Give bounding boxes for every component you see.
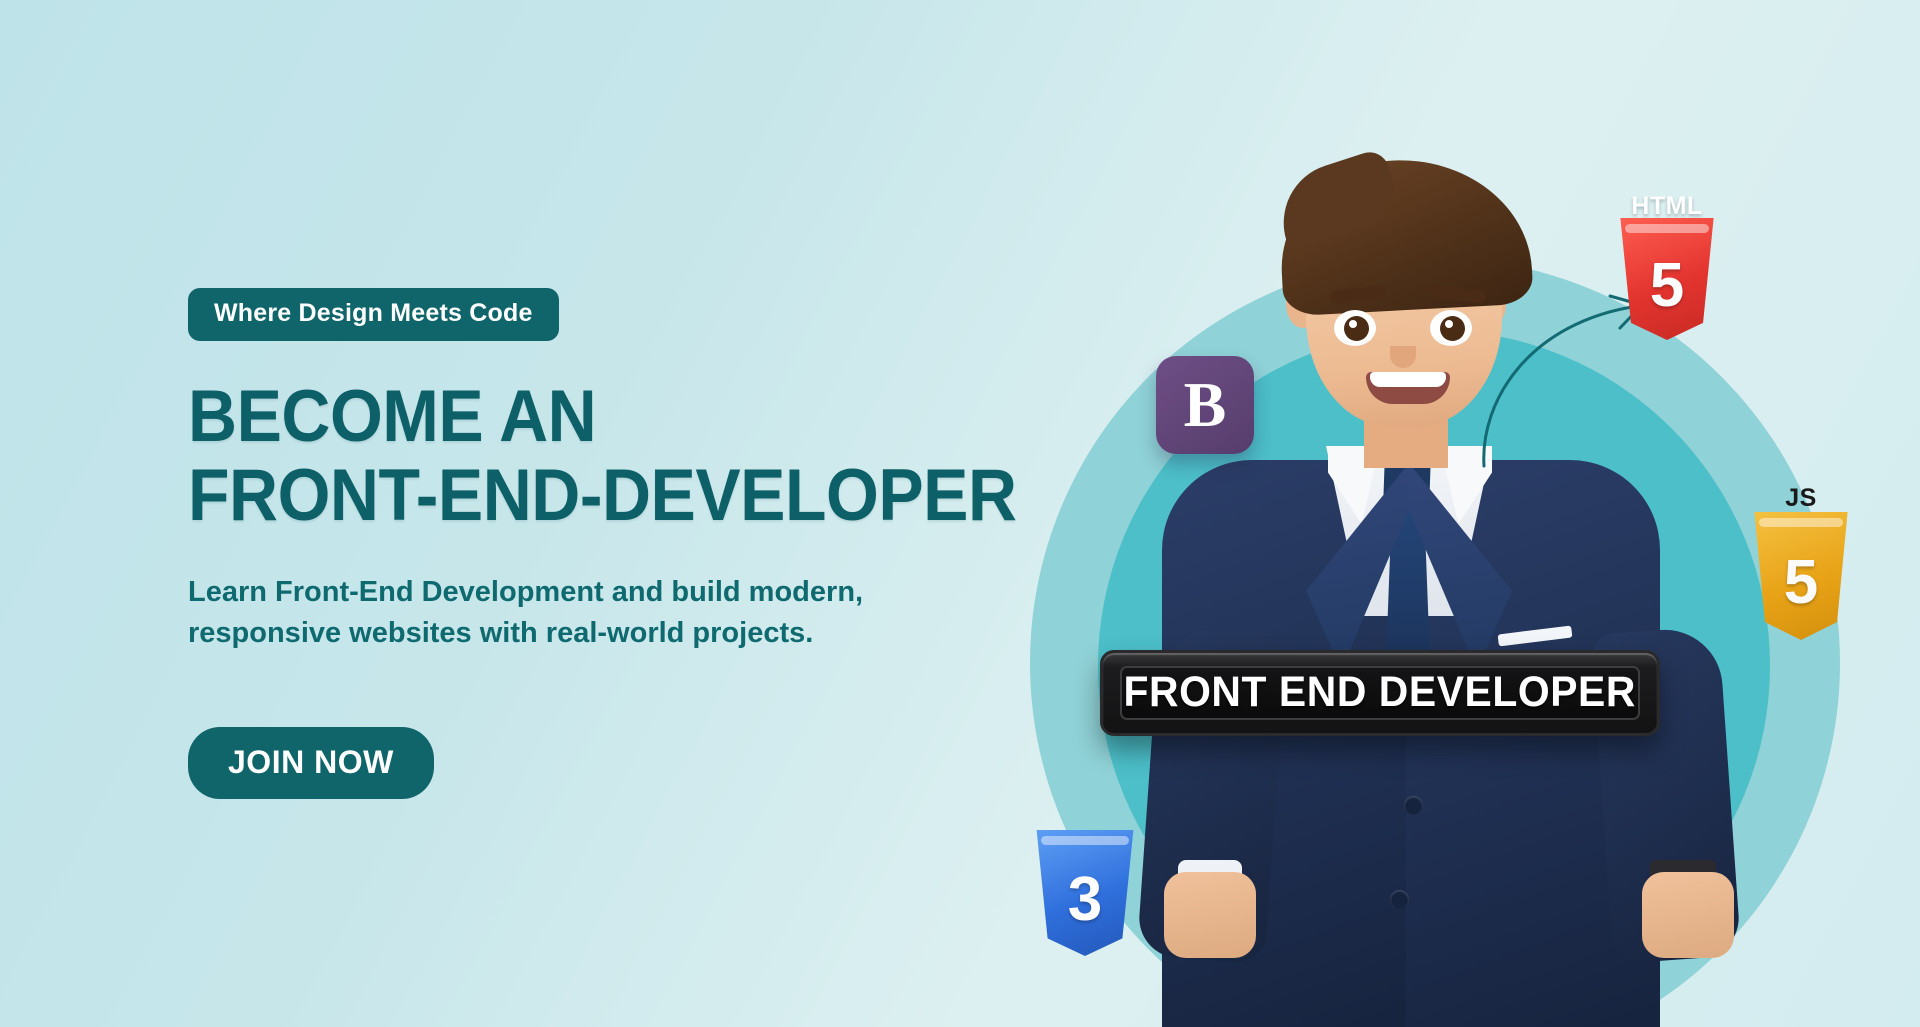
headline-line-2: FRONT-END-DEVELOPER — [188, 462, 1025, 531]
css3-shield: 3 — [1030, 830, 1140, 956]
name-plate-sign: FRONT END DEVELOPER — [1100, 650, 1660, 736]
page-title: BECOME AN FRONT-END-DEVELOPER — [188, 383, 1025, 530]
hand-left — [1164, 872, 1256, 958]
javascript-icon: JS 5 — [1748, 512, 1854, 640]
html5-highlight — [1625, 224, 1710, 233]
mouth — [1366, 372, 1450, 404]
bootstrap-glyph: B — [1184, 373, 1227, 437]
jacket-button-top — [1404, 796, 1423, 815]
jacket-button-bottom — [1390, 890, 1409, 909]
css3-highlight — [1041, 836, 1129, 845]
teeth — [1370, 372, 1446, 387]
hand-right — [1642, 872, 1734, 958]
javascript-glyph: 5 — [1784, 552, 1818, 614]
html5-icon: HTML 5 — [1614, 218, 1720, 340]
hero-copy-block: Where Design Meets Code BECOME AN FRONT-… — [188, 288, 1088, 799]
html5-label: HTML — [1614, 192, 1720, 221]
javascript-label: JS — [1748, 484, 1854, 513]
css3-glyph: 3 — [1068, 869, 1102, 931]
eyebrow-badge: Where Design Meets Code — [188, 288, 559, 341]
html5-shield: 5 — [1614, 218, 1720, 340]
bootstrap-icon: B — [1156, 356, 1254, 454]
hero-banner: Where Design Meets Code BECOME AN FRONT-… — [0, 0, 1920, 1027]
javascript-highlight — [1759, 518, 1844, 527]
join-now-button[interactable]: JOIN NOW — [188, 727, 434, 799]
css3-icon: 3 — [1030, 830, 1140, 956]
headline-line-1: BECOME AN — [188, 376, 596, 457]
name-plate-inner: FRONT END DEVELOPER — [1120, 666, 1641, 720]
pupil-right — [1440, 316, 1465, 341]
javascript-shield: 5 — [1748, 512, 1854, 640]
html5-glyph: 5 — [1650, 255, 1684, 317]
pupil-left — [1344, 316, 1369, 341]
hero-subtitle: Learn Front-End Development and build mo… — [188, 572, 928, 654]
name-plate-text: FRONT END DEVELOPER — [1124, 668, 1636, 717]
